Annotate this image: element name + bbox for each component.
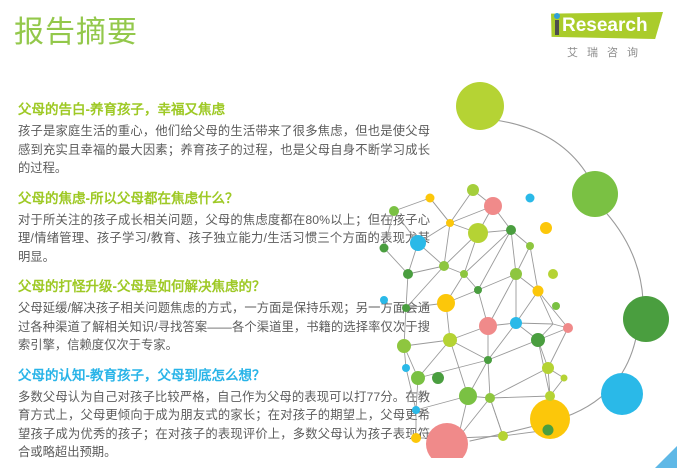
section-heading-3: 父母的打怪升级-父母是如何解决焦虑的？ bbox=[18, 277, 430, 297]
section-heading-4: 父母的认知-教育孩子，父母到底怎么想？ bbox=[18, 366, 430, 386]
network-node bbox=[601, 373, 643, 415]
logo-wordmark: Research bbox=[562, 15, 648, 37]
logo-i-dot-icon bbox=[554, 13, 560, 19]
summary-section: 父母的告白-养育孩子，幸福又焦虑 孩子是家庭生活的重心，他们给父母的生活带来了很… bbox=[18, 100, 430, 178]
logo-subtitle: 艾瑞咨询 bbox=[553, 44, 661, 60]
network-node bbox=[623, 296, 669, 342]
section-body-1: 孩子是家庭生活的重心，他们给父母的生活带来了很多焦虑，但也是使父母感到充实且幸福… bbox=[18, 122, 430, 178]
summary-section: 父母的焦虑-所以父母都在焦虑什么？ 对于所关注的孩子成长相关问题，父母的焦虑度都… bbox=[18, 189, 430, 267]
page-title: 报告摘要 bbox=[14, 12, 138, 54]
section-body-4: 多数父母认为自己对孩子比较严格，自己作为父母的表现可以打77分。在教育方式上，父… bbox=[18, 388, 430, 462]
section-heading-2: 父母的焦虑-所以父母都在焦虑什么？ bbox=[18, 189, 430, 209]
network-node bbox=[456, 82, 504, 130]
section-body-2: 对于所关注的孩子成长相关问题，父母的焦虑度都在80%以上；但在孩子心理/情绪管理… bbox=[18, 211, 430, 267]
logo-i-stem-icon bbox=[555, 20, 559, 35]
blue-corner-triangle-icon bbox=[655, 446, 677, 468]
section-body-3: 父母延缓/解决孩子相关问题焦虑的方式，一方面是保持乐观；另一方面会通过各种渠道了… bbox=[18, 299, 430, 355]
iresearch-logo: Research 艾瑞咨询 bbox=[531, 10, 663, 68]
summary-section: 父母的认知-教育孩子，父母到底怎么想？ 多数父母认为自己对孩子比较严格，自己作为… bbox=[18, 366, 430, 462]
network-node bbox=[572, 171, 618, 217]
network-graphic bbox=[378, 78, 677, 458]
slide-canvas: 报告摘要 Research 艾瑞咨询 父母的告白-养育孩子，幸福又焦虑 孩子是家… bbox=[0, 0, 677, 468]
section-heading-1: 父母的告白-养育孩子，幸福又焦虑 bbox=[18, 100, 430, 120]
summary-sections: 父母的告白-养育孩子，幸福又焦虑 孩子是家庭生活的重心，他们给父母的生活带来了很… bbox=[18, 100, 430, 468]
summary-section: 父母的打怪升级-父母是如何解决焦虑的？ 父母延缓/解决孩子相关问题焦虑的方式，一… bbox=[18, 277, 430, 355]
logo-mark: Research bbox=[531, 10, 663, 42]
